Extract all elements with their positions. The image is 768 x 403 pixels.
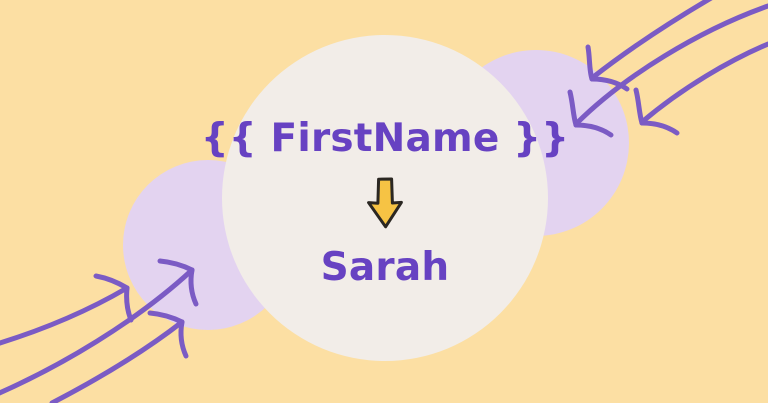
down-arrow-icon xyxy=(364,176,406,230)
merge-token-text: {{ FirstName }} xyxy=(201,119,569,158)
content-stack: {{ FirstName }} Sarah xyxy=(222,35,548,361)
resolved-value-text: Sarah xyxy=(321,248,450,287)
poster-canvas: {{ FirstName }} Sarah xyxy=(0,0,768,403)
